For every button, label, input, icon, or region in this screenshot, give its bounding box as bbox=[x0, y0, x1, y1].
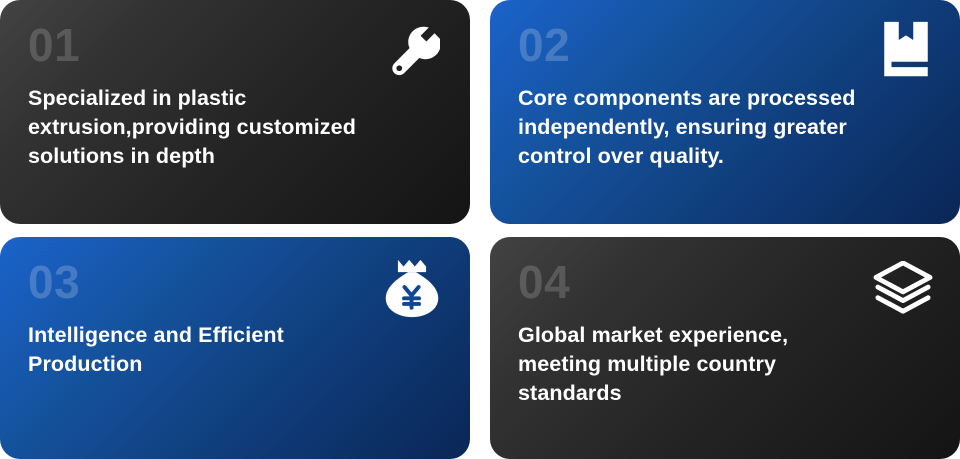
card-number-03: 03 bbox=[28, 259, 442, 305]
feature-card-grid: 01 Specialized in plastic extrusion,prov… bbox=[0, 0, 960, 459]
card-text-03: Intelligence and Efficient Production bbox=[28, 321, 442, 379]
feature-card-01[interactable]: 01 Specialized in plastic extrusion,prov… bbox=[0, 0, 470, 224]
card-number-02: 02 bbox=[518, 22, 932, 68]
card-text-01: Specialized in plastic extrusion,providi… bbox=[28, 84, 442, 170]
feature-card-04[interactable]: 04 Global market experience, meeting mul… bbox=[490, 237, 960, 459]
feature-card-03[interactable]: 03 Intelligence and Efficient Production bbox=[0, 237, 470, 459]
card-number-01: 01 bbox=[28, 22, 442, 68]
feature-card-02[interactable]: 02 Core components are processed indepen… bbox=[490, 0, 960, 224]
card-text-04: Global market experience, meeting multip… bbox=[518, 321, 932, 407]
card-number-04: 04 bbox=[518, 259, 932, 305]
card-text-02: Core components are processed independen… bbox=[518, 84, 932, 170]
